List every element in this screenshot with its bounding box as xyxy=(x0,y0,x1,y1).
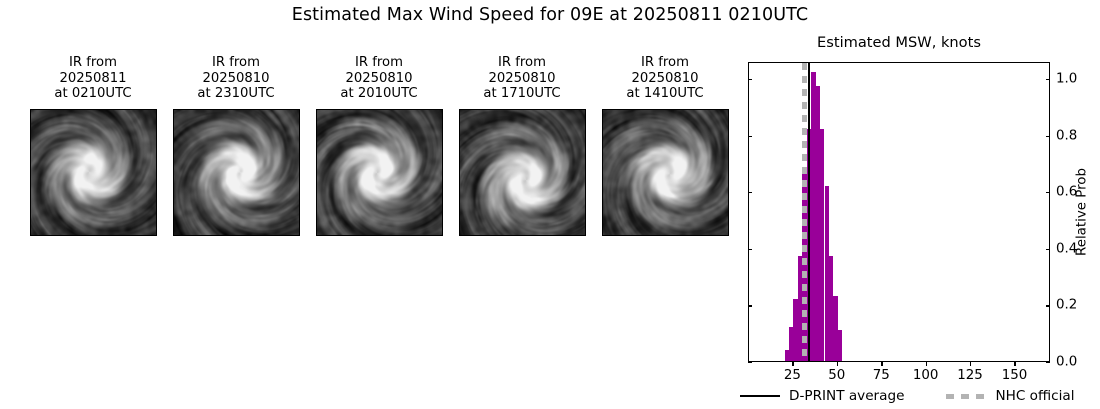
dashed-line-swatch-icon xyxy=(946,394,986,399)
legend-item-dprint: D-PRINT average xyxy=(740,388,904,404)
dprint-average-line xyxy=(808,63,810,361)
y-axis-tick-right xyxy=(1046,305,1050,306)
x-axis-tick xyxy=(1014,362,1015,366)
y-axis-tick-label: 0.8 xyxy=(1056,128,1077,143)
y-axis-tick-right xyxy=(1046,136,1050,137)
y-axis-tick-right xyxy=(1046,192,1050,193)
y-axis-tick-right xyxy=(1046,362,1050,363)
x-axis-tick xyxy=(881,362,882,366)
x-axis-tick-label: 50 xyxy=(828,368,845,383)
x-axis-tick xyxy=(837,362,838,366)
y-axis-tick-left xyxy=(748,79,752,80)
x-axis-tick-label: 150 xyxy=(1002,368,1028,383)
x-axis-tick-label: 75 xyxy=(873,368,890,383)
x-axis-tick xyxy=(792,362,793,366)
x-axis-tick-label: 125 xyxy=(957,368,983,383)
y-axis-tick-left xyxy=(748,136,752,137)
y-axis-tick-label: 1.0 xyxy=(1056,71,1077,86)
legend-item-nhc: NHC official xyxy=(946,388,1074,404)
x-axis-tick-label: 100 xyxy=(913,368,939,383)
solid-line-swatch-icon xyxy=(740,395,780,397)
y-axis-tick-left xyxy=(748,305,752,306)
y-axis-tick-label: 0.2 xyxy=(1056,298,1077,313)
histogram-bar xyxy=(838,330,842,361)
y-axis-tick-left xyxy=(748,362,752,363)
plot-area xyxy=(748,62,1050,362)
y-axis-tick-right xyxy=(1046,79,1050,80)
y-axis-tick-left xyxy=(748,192,752,193)
y-axis-tick-left xyxy=(748,249,752,250)
x-axis-tick xyxy=(970,362,971,366)
y-axis-label: Relative Prob xyxy=(1075,168,1090,256)
y-axis-tick-label: 0.0 xyxy=(1056,355,1077,370)
x-axis-tick-label: 25 xyxy=(784,368,801,383)
y-axis-tick-right xyxy=(1046,249,1050,250)
chart-title: Estimated MSW, knots xyxy=(748,34,1050,51)
x-axis-tick xyxy=(926,362,927,366)
histogram-chart: Estimated MSW, knots 2550751001251500.00… xyxy=(0,0,1100,409)
nhc-official-line xyxy=(802,63,807,361)
chart-legend: D-PRINT average NHC official xyxy=(740,385,1085,407)
histogram-bars xyxy=(749,63,1049,361)
figure-root: Estimated Max Wind Speed for 09E at 2025… xyxy=(0,0,1100,409)
legend-label-nhc: NHC official xyxy=(995,388,1074,404)
legend-label-dprint: D-PRINT average xyxy=(789,388,904,404)
